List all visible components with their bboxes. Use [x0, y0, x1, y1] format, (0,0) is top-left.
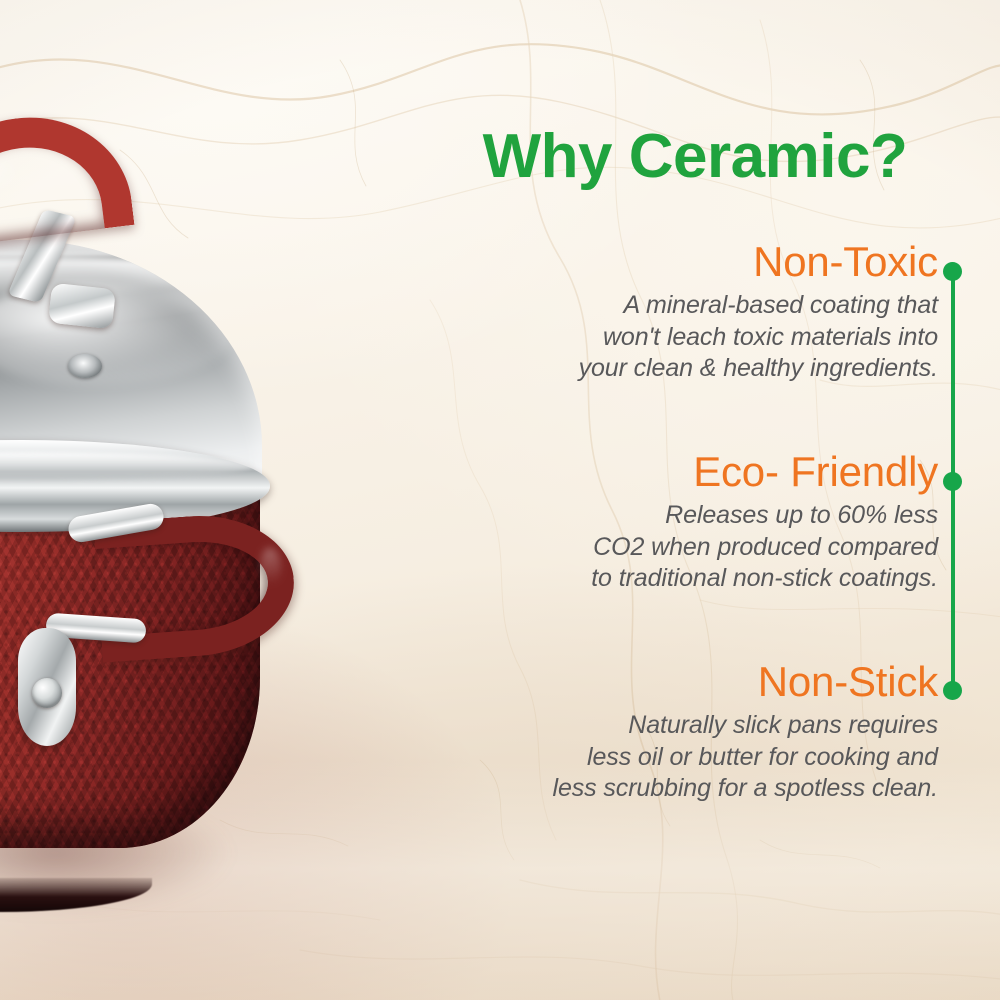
feature-block-eco-friendly: Eco- Friendly Releases up to 60% less CO… — [470, 450, 938, 595]
feature-line: your clean & healthy ingredients. — [470, 353, 938, 385]
feature-line: to traditional non-stick coatings. — [470, 563, 938, 595]
lid-handle-chrome-base — [48, 283, 116, 329]
feature-line: A mineral-based coating that — [470, 290, 938, 322]
feature-line: CO2 when produced compared — [470, 532, 938, 564]
eco-friendly-marker — [943, 472, 962, 491]
feature-line: Releases up to 60% less — [470, 500, 938, 532]
feature-line: less oil or butter for cooking and — [470, 742, 938, 774]
content-panel: Why Ceramic? Non-Toxic A mineral-based c… — [470, 0, 1000, 1000]
ceramic-cookware-pot — [0, 118, 460, 908]
handle-rivet — [32, 678, 62, 708]
lid-chrome-rim-shine — [0, 452, 252, 480]
feature-heading: Eco- Friendly — [470, 450, 938, 494]
lid-steam-vent — [68, 354, 102, 378]
feature-block-non-toxic: Non-Toxic A mineral-based coating that w… — [470, 240, 938, 385]
feature-heading: Non-Toxic — [470, 240, 938, 284]
page-title: Why Ceramic? — [430, 126, 960, 188]
feature-description: A mineral-based coating that won't leach… — [470, 290, 938, 385]
feature-block-non-stick: Non-Stick Naturally slick pans requires … — [470, 660, 938, 805]
feature-heading: Non-Stick — [470, 660, 938, 704]
feature-description: Releases up to 60% less CO2 when produce… — [470, 500, 938, 595]
feature-line: won't leach toxic materials into — [470, 322, 938, 354]
feature-timeline — [948, 262, 958, 700]
infographic-canvas: Why Ceramic? Non-Toxic A mineral-based c… — [0, 0, 1000, 1000]
feature-line: Naturally slick pans requires — [470, 710, 938, 742]
non-toxic-marker — [943, 262, 962, 281]
feature-line: less scrubbing for a spotless clean. — [470, 773, 938, 805]
feature-description: Naturally slick pans requires less oil o… — [470, 710, 938, 805]
non-stick-marker — [943, 681, 962, 700]
red-silicone-handle — [0, 106, 135, 251]
